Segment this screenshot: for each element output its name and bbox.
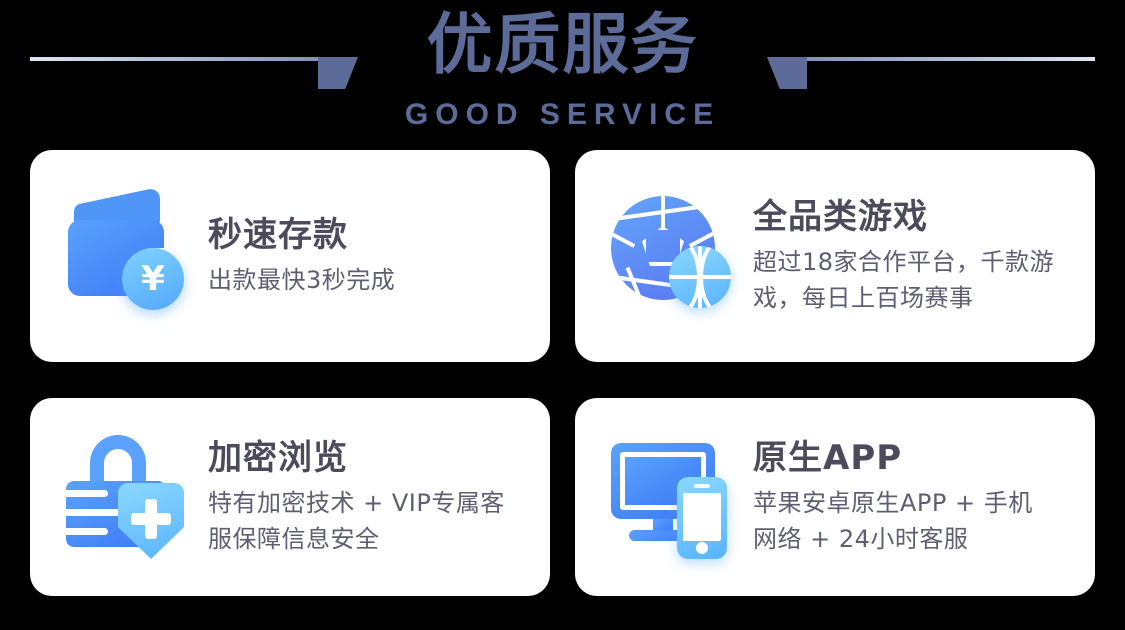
soccer-seam (611, 230, 635, 248)
card-text-encryption: 加密浏览 特有加密技术 + VIP专属客服保障信息安全 (208, 437, 508, 557)
feature-card-encryption[interactable]: 加密浏览 特有加密技术 + VIP专属客服保障信息安全 (30, 398, 550, 596)
soccer-seam (661, 196, 665, 228)
card-title: 原生APP (753, 437, 1053, 479)
card-title: 秒速存款 (208, 214, 395, 256)
card-description: 出款最快3秒完成 (208, 262, 395, 298)
lock-stripe (66, 528, 108, 535)
card-text-app: 原生APP 苹果安卓原生APP + 手机网络 + 24小时客服 (753, 437, 1053, 557)
plus-icon (131, 513, 171, 525)
yen-symbol: ¥ (141, 262, 165, 296)
card-title: 加密浏览 (208, 437, 508, 479)
phone-icon (677, 477, 727, 559)
page-subtitle: GOOD SERVICE (0, 98, 1125, 132)
basketball-icon (669, 246, 731, 308)
phone-speaker (694, 484, 710, 488)
basketball-curve (699, 246, 731, 308)
feature-card-deposit[interactable]: ¥ 秒速存款 出款最快3秒完成 (30, 150, 550, 362)
lock-stripe (66, 509, 122, 516)
card-description: 特有加密技术 + VIP专属客服保障信息安全 (208, 485, 508, 557)
basketball-curve (669, 246, 701, 308)
feature-card-grid: ¥ 秒速存款 出款最快3秒完成 (30, 150, 1095, 598)
soccer-basketball-icon (609, 190, 741, 322)
page-title: 优质服务 (0, 6, 1125, 84)
lock-shield-icon (64, 431, 196, 563)
feature-card-games[interactable]: 全品类游戏 超过18家合作平台，千款游戏，每日上百场赛事 (575, 150, 1095, 362)
feature-card-app[interactable]: 原生APP 苹果安卓原生APP + 手机网络 + 24小时客服 (575, 398, 1095, 596)
lock-stripe (66, 490, 108, 497)
card-title: 全品类游戏 (753, 196, 1083, 238)
page-header: 优质服务 GOOD SERVICE (0, 0, 1125, 142)
card-description: 超过18家合作平台，千款游戏，每日上百场赛事 (753, 244, 1083, 316)
yen-coin-icon: ¥ (122, 248, 184, 310)
monitor-phone-icon (609, 431, 741, 563)
wallet-coin-icon: ¥ (64, 190, 196, 322)
card-text-games: 全品类游戏 超过18家合作平台，千款游戏，每日上百场赛事 (753, 196, 1083, 316)
card-description: 苹果安卓原生APP + 手机网络 + 24小时客服 (753, 485, 1053, 557)
phone-screen (683, 493, 721, 541)
card-text-deposit: 秒速存款 出款最快3秒完成 (208, 214, 395, 298)
soccer-seam (626, 267, 645, 300)
shield-icon (118, 483, 184, 559)
promo-page: 优质服务 GOOD SERVICE ¥ 秒速存款 出款最快3秒完成 (0, 0, 1125, 630)
phone-home-button (696, 542, 708, 554)
